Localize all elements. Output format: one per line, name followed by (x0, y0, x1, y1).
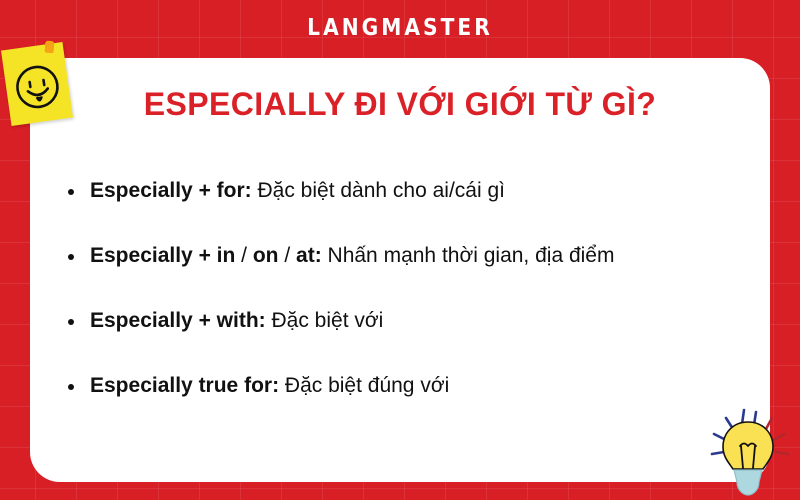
list-item-lead-part: Especially + in (90, 244, 235, 267)
slide-canvas: LANGMASTER ESPECIALLY ĐI VỚI GIỚI TỪ GÌ?… (0, 0, 800, 500)
brand-logo-text: LANGMASTER (48, 14, 752, 42)
grammar-rule-list: Especially + for: Đặc biệt dành cho ai/c… (68, 178, 728, 438)
list-item-lead: Especially + in / on / at: (90, 244, 322, 267)
list-item-desc: Nhấn mạnh thời gian, địa điểm (322, 244, 615, 267)
bullet-dot-icon (68, 384, 74, 390)
list-item: Especially + with: Đặc biệt với (68, 308, 728, 373)
list-item: Especially + for: Đặc biệt dành cho ai/c… (68, 178, 728, 243)
list-item-text: Especially true for: Đặc biệt đúng với (90, 373, 449, 399)
list-item-desc: Đặc biệt đúng với (279, 374, 449, 397)
list-item-text: Especially + for: Đặc biệt dành cho ai/c… (90, 178, 505, 204)
list-item-desc: Đặc biệt dành cho ai/cái gì (252, 179, 505, 202)
light-bulb-icon (700, 402, 796, 500)
list-item-lead-part: at: (296, 244, 322, 267)
list-item: Especially + in / on / at: Nhấn mạnh thờ… (68, 243, 728, 308)
list-item-lead: Especially + for: (90, 179, 252, 202)
bullet-dot-icon (68, 189, 74, 195)
slash-separator: / (235, 244, 253, 267)
pin-icon (45, 41, 55, 54)
list-item-lead: Especially + with: (90, 309, 266, 332)
bullet-dot-icon (68, 319, 74, 325)
page-title: ESPECIALLY ĐI VỚI GIỚI TỪ GÌ? (0, 84, 800, 124)
list-item-text: Especially + with: Đặc biệt với (90, 308, 383, 334)
list-item-lead-part: on (253, 244, 279, 267)
list-item-lead: Especially true for: (90, 374, 279, 397)
smiley-face-icon (11, 61, 63, 113)
list-item-text: Especially + in / on / at: Nhấn mạnh thờ… (90, 243, 614, 269)
sticky-note-icon (1, 42, 73, 126)
list-item-desc: Đặc biệt với (266, 309, 384, 332)
bullet-dot-icon (68, 254, 74, 260)
slash-separator: / (279, 244, 297, 267)
list-item: Especially true for: Đặc biệt đúng với (68, 373, 728, 438)
